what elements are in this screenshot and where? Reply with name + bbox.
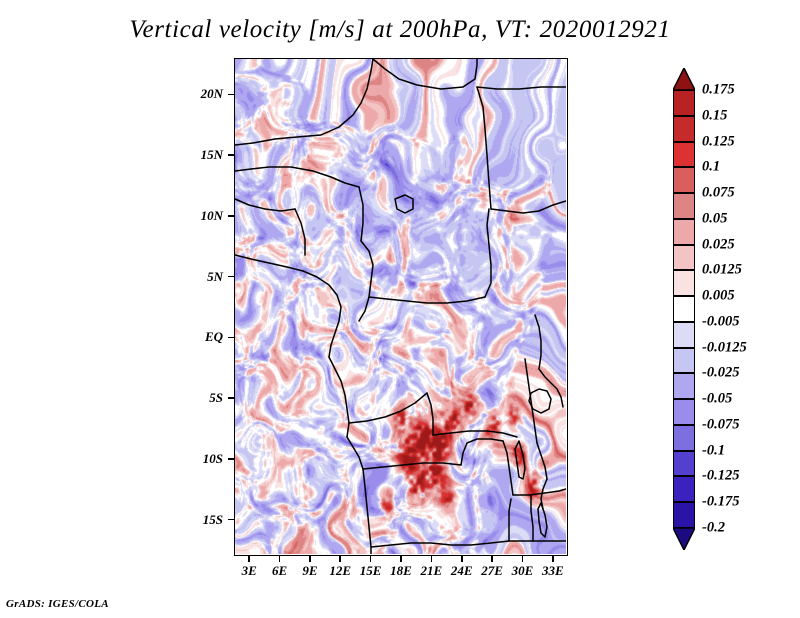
colorbar-tick-label: 0.1 xyxy=(702,159,720,176)
colorbar-band xyxy=(673,399,695,425)
x-tick-mark xyxy=(522,556,524,562)
page-title: Vertical velocity [m/s] at 200hPa, VT: 2… xyxy=(0,16,800,44)
colorbar-arrow-bottom xyxy=(673,528,695,550)
colorbar-band xyxy=(673,348,695,374)
x-tick-mark xyxy=(552,556,554,562)
colorbar-arrow-top xyxy=(673,68,695,90)
colorbar-band xyxy=(673,322,695,348)
y-axis-label: 20N xyxy=(163,86,223,102)
y-axis-label: 5N xyxy=(163,269,223,285)
colorbar-band xyxy=(673,425,695,451)
colorbar-tick-label: -0.0125 xyxy=(702,339,747,356)
y-axis-label: 15S xyxy=(163,512,223,528)
colorbar-band xyxy=(673,502,695,528)
y-tick-mark xyxy=(228,215,234,217)
y-tick-mark xyxy=(228,458,234,460)
colorbar-band xyxy=(673,270,695,296)
y-axis-label: 10N xyxy=(163,208,223,224)
y-tick-mark xyxy=(228,519,234,521)
y-tick-mark xyxy=(228,94,234,96)
y-axis-label: 15N xyxy=(163,147,223,163)
x-tick-mark xyxy=(339,556,341,562)
colorbar-band xyxy=(673,451,695,477)
x-tick-mark xyxy=(461,556,463,562)
colorbar-band xyxy=(673,90,695,116)
colorbar-tick-label: 0.175 xyxy=(702,82,735,99)
x-axis-label: 33E xyxy=(530,563,576,579)
colorbar-tick-label: 0.0125 xyxy=(702,262,742,279)
x-tick-mark xyxy=(431,556,433,562)
colorbar-band xyxy=(673,116,695,142)
y-axis-label: 5S xyxy=(163,390,223,406)
colorbar-tick-label: 0.005 xyxy=(702,288,735,305)
y-tick-mark xyxy=(228,154,234,156)
colorbar-band xyxy=(673,193,695,219)
x-tick-mark xyxy=(491,556,493,562)
colorbar-band xyxy=(673,296,695,322)
colorbar-band xyxy=(673,245,695,271)
y-tick-mark xyxy=(228,337,234,339)
colorbar-band xyxy=(673,219,695,245)
x-tick-mark xyxy=(309,556,311,562)
x-tick-mark xyxy=(370,556,372,562)
colorbar-tick-label: -0.1 xyxy=(702,442,725,459)
colorbar-band xyxy=(673,476,695,502)
y-tick-mark xyxy=(228,276,234,278)
y-axis-label: EQ xyxy=(163,329,223,345)
colorbar-tick-label: -0.025 xyxy=(702,365,739,382)
y-tick-mark xyxy=(228,397,234,399)
colorbar-tick-label: -0.05 xyxy=(702,391,732,408)
x-tick-mark xyxy=(279,556,281,562)
colorbar-tick-label: -0.075 xyxy=(702,416,739,433)
colorbar-tick-label: 0.125 xyxy=(702,133,735,150)
colorbar-tick-label: 0.075 xyxy=(702,185,735,202)
colorbar-tick-label: 0.15 xyxy=(702,107,727,124)
colorbar-band xyxy=(673,373,695,399)
colorbar-tick-label: -0.005 xyxy=(702,313,739,330)
colorbar-tick-label: 0.025 xyxy=(702,236,735,253)
colorbar-tick-label: 0.05 xyxy=(702,210,727,227)
map-plot-area xyxy=(234,58,568,556)
y-axis-label: 10S xyxy=(163,451,223,467)
footer-credit: GrADS: IGES/COLA xyxy=(6,598,109,610)
colorbar-tick-label: -0.2 xyxy=(702,520,725,537)
colorbar-band xyxy=(673,167,695,193)
colorbar xyxy=(673,68,695,550)
x-tick-mark xyxy=(400,556,402,562)
x-tick-mark xyxy=(248,556,250,562)
colorbar-band xyxy=(673,142,695,168)
colorbar-tick-label: -0.175 xyxy=(702,494,739,511)
colorbar-tick-label: -0.125 xyxy=(702,468,739,485)
vertical-velocity-field xyxy=(235,59,566,554)
